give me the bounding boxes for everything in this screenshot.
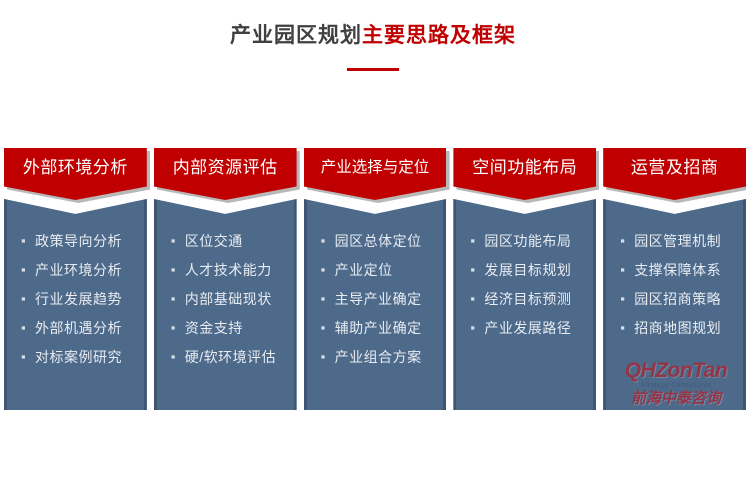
list-item[interactable]: ▪人才技术能力	[157, 255, 294, 284]
framework-column: 运营及招商▪园区管理机制▪支撑保障体系▪园区招商策略▪招商地图规划QHZonTa…	[603, 148, 746, 410]
list-item-label: 区位交通	[185, 231, 243, 251]
bullet-dot-icon: ▪	[21, 292, 35, 305]
bullet-dot-icon: ▪	[171, 234, 185, 247]
watermark-logo: QHZonTanStrategy Consultants前海中泰咨询	[617, 360, 735, 406]
list-item[interactable]: ▪硬/软环境评估	[157, 342, 294, 371]
bullet-dot-icon: ▪	[21, 350, 35, 363]
bullet-dot-icon: ▪	[171, 263, 185, 276]
list-item-label: 内部基础现状	[185, 289, 272, 309]
list-item[interactable]: ▪招商地图规划	[606, 313, 743, 342]
framework-columns: 外部环境分析▪政策导向分析▪产业环境分析▪行业发展趋势▪外部机遇分析▪对标案例研…	[4, 148, 746, 410]
title-underline-rule	[347, 68, 399, 71]
list-item-label: 对标案例研究	[35, 347, 122, 367]
list-item[interactable]: ▪行业发展趋势	[7, 284, 144, 313]
bullet-dot-icon: ▪	[620, 263, 634, 276]
list-item[interactable]: ▪对标案例研究	[7, 342, 144, 371]
column-bullet-list: ▪园区功能布局▪发展目标规划▪经济目标预测▪产业发展路径	[456, 226, 593, 342]
list-item[interactable]: ▪园区总体定位	[307, 226, 444, 255]
bullet-dot-icon: ▪	[470, 292, 484, 305]
bullet-dot-icon: ▪	[21, 234, 35, 247]
list-item[interactable]: ▪产业组合方案	[307, 342, 444, 371]
bullet-dot-icon: ▪	[171, 292, 185, 305]
bullet-dot-icon: ▪	[620, 292, 634, 305]
bullet-dot-icon: ▪	[321, 321, 335, 334]
list-item-label: 行业发展趋势	[35, 289, 122, 309]
list-item[interactable]: ▪资金支持	[157, 313, 294, 342]
column-header-label: 运营及招商	[631, 156, 719, 180]
list-item-label: 产业定位	[335, 260, 393, 280]
list-item[interactable]: ▪内部基础现状	[157, 284, 294, 313]
list-item-label: 主导产业确定	[335, 289, 422, 309]
column-body-panel: ▪园区功能布局▪发展目标规划▪经济目标预测▪产业发展路径	[453, 188, 596, 410]
column-bullet-list: ▪区位交通▪人才技术能力▪内部基础现状▪资金支持▪硬/软环境评估	[157, 226, 294, 371]
framework-column: 外部环境分析▪政策导向分析▪产业环境分析▪行业发展趋势▪外部机遇分析▪对标案例研…	[4, 148, 147, 410]
framework-column: 内部资源评估▪区位交通▪人才技术能力▪内部基础现状▪资金支持▪硬/软环境评估	[154, 148, 297, 410]
list-item[interactable]: ▪支撑保障体系	[606, 255, 743, 284]
list-item[interactable]: ▪发展目标规划	[456, 255, 593, 284]
column-body-panel: ▪政策导向分析▪产业环境分析▪行业发展趋势▪外部机遇分析▪对标案例研究	[4, 188, 147, 410]
list-item[interactable]: ▪园区功能布局	[456, 226, 593, 255]
list-item-label: 外部机遇分析	[35, 318, 122, 338]
list-item[interactable]: ▪经济目标预测	[456, 284, 593, 313]
list-item[interactable]: ▪外部机遇分析	[7, 313, 144, 342]
bullet-dot-icon: ▪	[470, 321, 484, 334]
list-item-label: 园区管理机制	[634, 231, 721, 251]
list-item-label: 硬/软环境评估	[185, 347, 276, 367]
list-item-label: 辅助产业确定	[335, 318, 422, 338]
bullet-dot-icon: ▪	[470, 234, 484, 247]
list-item[interactable]: ▪主导产业确定	[307, 284, 444, 313]
list-item-label: 产业发展路径	[484, 318, 571, 338]
title-text: 产业园区规划主要思路及框架	[0, 22, 746, 50]
list-item-label: 产业环境分析	[35, 260, 122, 280]
list-item-label: 园区功能布局	[484, 231, 571, 251]
list-item-label: 招商地图规划	[634, 318, 721, 338]
list-item-label: 发展目标规划	[484, 260, 571, 280]
title-dark-part: 产业园区规划	[230, 24, 362, 47]
list-item[interactable]: ▪辅助产业确定	[307, 313, 444, 342]
watermark-tagline: Strategy Consultants	[617, 382, 735, 389]
column-body-panel: ▪园区管理机制▪支撑保障体系▪园区招商策略▪招商地图规划QHZonTanStra…	[603, 188, 746, 410]
bullet-dot-icon: ▪	[620, 234, 634, 247]
bullet-dot-icon: ▪	[321, 350, 335, 363]
list-item[interactable]: ▪园区管理机制	[606, 226, 743, 255]
list-item[interactable]: ▪产业发展路径	[456, 313, 593, 342]
bullet-dot-icon: ▪	[171, 350, 185, 363]
column-header-label: 产业选择与定位	[321, 156, 430, 180]
bullet-dot-icon: ▪	[21, 321, 35, 334]
list-item-label: 政策导向分析	[35, 231, 122, 251]
bullet-dot-icon: ▪	[321, 292, 335, 305]
list-item-label: 产业组合方案	[335, 347, 422, 367]
column-body-panel: ▪园区总体定位▪产业定位▪主导产业确定▪辅助产业确定▪产业组合方案	[304, 188, 447, 410]
column-header-label: 空间功能布局	[472, 156, 577, 180]
column-bullet-list: ▪政策导向分析▪产业环境分析▪行业发展趋势▪外部机遇分析▪对标案例研究	[7, 226, 144, 371]
list-item-label: 支撑保障体系	[634, 260, 721, 280]
list-item-label: 人才技术能力	[185, 260, 272, 280]
framework-column: 空间功能布局▪园区功能布局▪发展目标规划▪经济目标预测▪产业发展路径	[453, 148, 596, 410]
framework-column: 产业选择与定位▪园区总体定位▪产业定位▪主导产业确定▪辅助产业确定▪产业组合方案	[304, 148, 447, 410]
list-item-label: 资金支持	[185, 318, 243, 338]
list-item-label: 园区总体定位	[335, 231, 422, 251]
list-item[interactable]: ▪产业环境分析	[7, 255, 144, 284]
list-item[interactable]: ▪区位交通	[157, 226, 294, 255]
watermark-brand-name: QHZonTan	[617, 360, 735, 381]
page-title: 产业园区规划主要思路及框架	[0, 22, 746, 71]
column-header-label: 外部环境分析	[23, 156, 128, 180]
bullet-dot-icon: ▪	[620, 321, 634, 334]
bullet-dot-icon: ▪	[21, 263, 35, 276]
watermark-brand-name-cn: 前海中泰咨询	[617, 391, 735, 406]
list-item-label: 经济目标预测	[484, 289, 571, 309]
bullet-dot-icon: ▪	[321, 234, 335, 247]
column-bullet-list: ▪园区管理机制▪支撑保障体系▪园区招商策略▪招商地图规划	[606, 226, 743, 342]
column-header-label: 内部资源评估	[173, 156, 278, 180]
list-item-label: 园区招商策略	[634, 289, 721, 309]
list-item[interactable]: ▪园区招商策略	[606, 284, 743, 313]
list-item[interactable]: ▪政策导向分析	[7, 226, 144, 255]
bullet-dot-icon: ▪	[321, 263, 335, 276]
title-red-part: 主要思路及框架	[362, 24, 516, 47]
list-item[interactable]: ▪产业定位	[307, 255, 444, 284]
bullet-dot-icon: ▪	[470, 263, 484, 276]
column-body-panel: ▪区位交通▪人才技术能力▪内部基础现状▪资金支持▪硬/软环境评估	[154, 188, 297, 410]
bullet-dot-icon: ▪	[171, 321, 185, 334]
column-bullet-list: ▪园区总体定位▪产业定位▪主导产业确定▪辅助产业确定▪产业组合方案	[307, 226, 444, 371]
